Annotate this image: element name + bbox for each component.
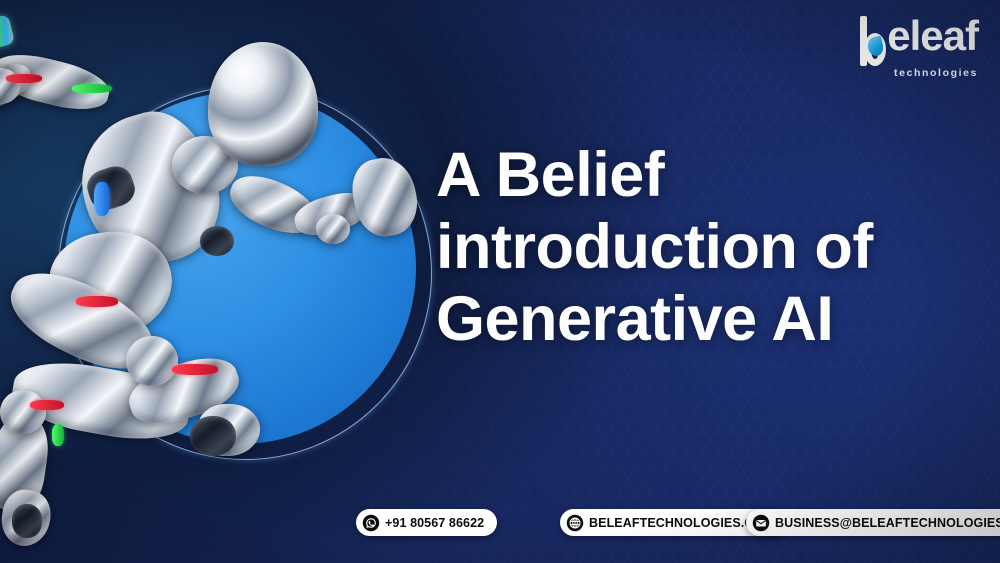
logo-tagline: technologies	[860, 67, 978, 79]
beleaf-logo[interactable]: eleaf technologies	[860, 16, 978, 79]
robot-knee-back	[0, 390, 46, 434]
robot-head	[208, 42, 318, 166]
logo-wordmark: eleaf	[860, 16, 978, 66]
robot-knee-front	[126, 336, 178, 386]
headline-line-2: introduction of	[436, 212, 976, 284]
envelope-icon	[752, 514, 770, 532]
robot-accent-green-1	[72, 84, 112, 93]
promo-banner: A Belief introduction of Generative AI e…	[0, 0, 1000, 563]
robot-accent-green-2	[52, 424, 64, 446]
robot-hand-led-panel	[0, 14, 15, 52]
contact-email-text: BUSINESS@BELEAFTECHNOLOGIES.COM	[775, 516, 1000, 530]
robot-accent-red-2	[76, 296, 118, 307]
robot-accent-red-3	[172, 364, 218, 375]
contact-phone-pill[interactable]: +91 80567 86622	[356, 509, 497, 536]
robot-ankle-panel	[190, 416, 236, 456]
contact-bar: +91 80567 86622 BELEAFTECHNOLOGIES.COM B…	[0, 509, 1000, 539]
headline-line-1: A Belief	[436, 140, 976, 212]
hero-headline: A Belief introduction of Generative AI	[436, 140, 976, 355]
globe-icon	[566, 514, 584, 532]
robot-accent-red-1	[6, 74, 42, 83]
robot-accent-blue-1	[94, 182, 110, 216]
logo-letter-b-with-droplet-icon	[860, 16, 886, 66]
robot-wrist-joint	[316, 214, 350, 244]
robot-hand	[347, 152, 424, 241]
robot-elbow-panel	[200, 226, 234, 256]
contact-phone-text: +91 80567 86622	[385, 516, 484, 530]
whatsapp-icon	[362, 514, 380, 532]
logo-name-text: eleaf	[887, 16, 978, 56]
contact-email-pill[interactable]: BUSINESS@BELEAFTECHNOLOGIES.COM	[746, 509, 1000, 536]
robot-illustration	[0, 18, 446, 538]
robot-accent-red-4	[30, 400, 64, 410]
headline-line-3: Generative AI	[436, 284, 976, 356]
